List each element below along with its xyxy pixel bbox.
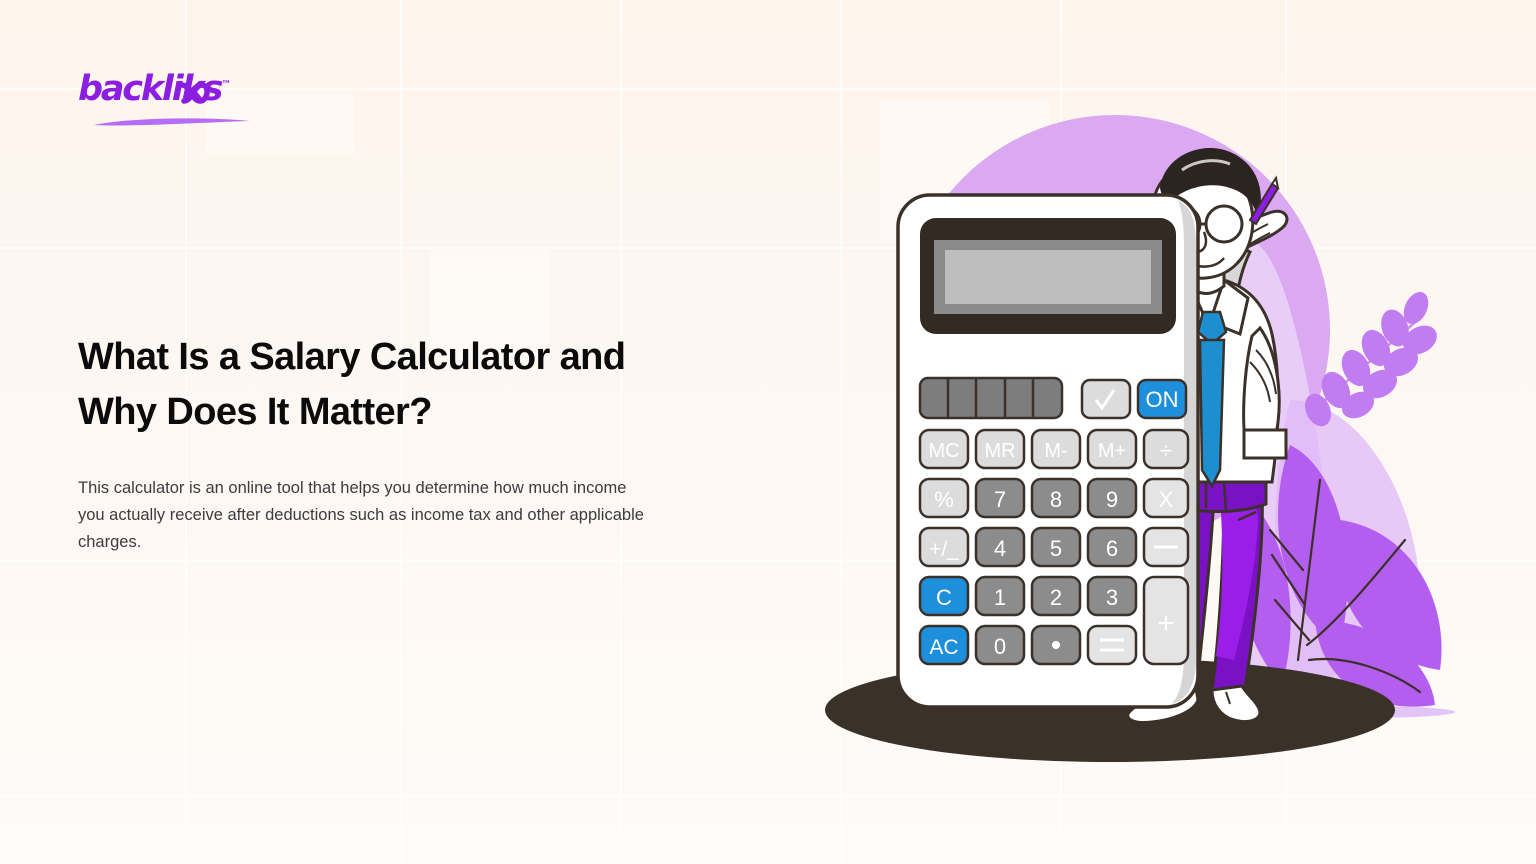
tie-body [1200, 340, 1224, 486]
svg-text:MR: MR [984, 440, 1015, 462]
svg-text:4: 4 [994, 536, 1006, 561]
hero-description: This calculator is an online tool that h… [78, 475, 648, 556]
svg-text:M-: M- [1044, 440, 1067, 462]
salary-calculator-illustration: ON MC MR M- M+ ÷ % [820, 100, 1520, 780]
chain-link-icon [178, 78, 214, 108]
calculator: ON MC MR M- M+ ÷ % [898, 195, 1198, 707]
svg-text:AC: AC [929, 636, 958, 659]
svg-text:C: C [936, 585, 952, 610]
svg-text:8: 8 [1050, 487, 1062, 512]
svg-text:6: 6 [1106, 536, 1118, 561]
page-title: What Is a Salary Calculator and Why Does… [78, 330, 698, 440]
svg-text:1: 1 [994, 585, 1006, 610]
display-screen [945, 250, 1151, 304]
on-key-label: ON [1146, 387, 1179, 412]
svg-text:3: 3 [1106, 585, 1118, 610]
decimal-dot-icon [1052, 641, 1060, 649]
illustration-svg: ON MC MR M- M+ ÷ % [820, 100, 1520, 780]
svg-text:2: 2 [1050, 585, 1062, 610]
svg-text:+/_: +/_ [929, 538, 959, 561]
logo-text-start: backli [78, 69, 182, 109]
sqrt-key[interactable] [1082, 380, 1130, 418]
svg-text:÷: ÷ [1160, 438, 1172, 463]
hero-banner: backliks™ What Is a Salary Calculator an… [0, 0, 1536, 864]
svg-text:MC: MC [928, 440, 959, 462]
key-row-1: MC MR M- M+ ÷ [920, 430, 1188, 468]
svg-text:7: 7 [994, 487, 1006, 512]
svg-text:%: % [934, 487, 954, 512]
logo-trademark: ™ [221, 79, 231, 90]
logo-underline-swoosh [92, 116, 252, 128]
svg-text:9: 9 [1106, 487, 1118, 512]
svg-text:5: 5 [1050, 536, 1062, 561]
rolled-cuff [1244, 430, 1286, 458]
grid-line-horizontal [0, 795, 1536, 797]
svg-text:X: X [1159, 487, 1174, 512]
segment-bar [920, 378, 1062, 418]
backlinks-logo[interactable]: backliks™ [78, 72, 308, 130]
equals-key[interactable] [1088, 626, 1136, 664]
svg-text:0: 0 [994, 634, 1006, 659]
key-row-2: % 7 8 9 X [920, 479, 1188, 517]
svg-text:+: + [1157, 607, 1175, 640]
svg-text:M+: M+ [1098, 440, 1126, 462]
key-row-3: +/_ 4 5 6 [920, 528, 1188, 566]
